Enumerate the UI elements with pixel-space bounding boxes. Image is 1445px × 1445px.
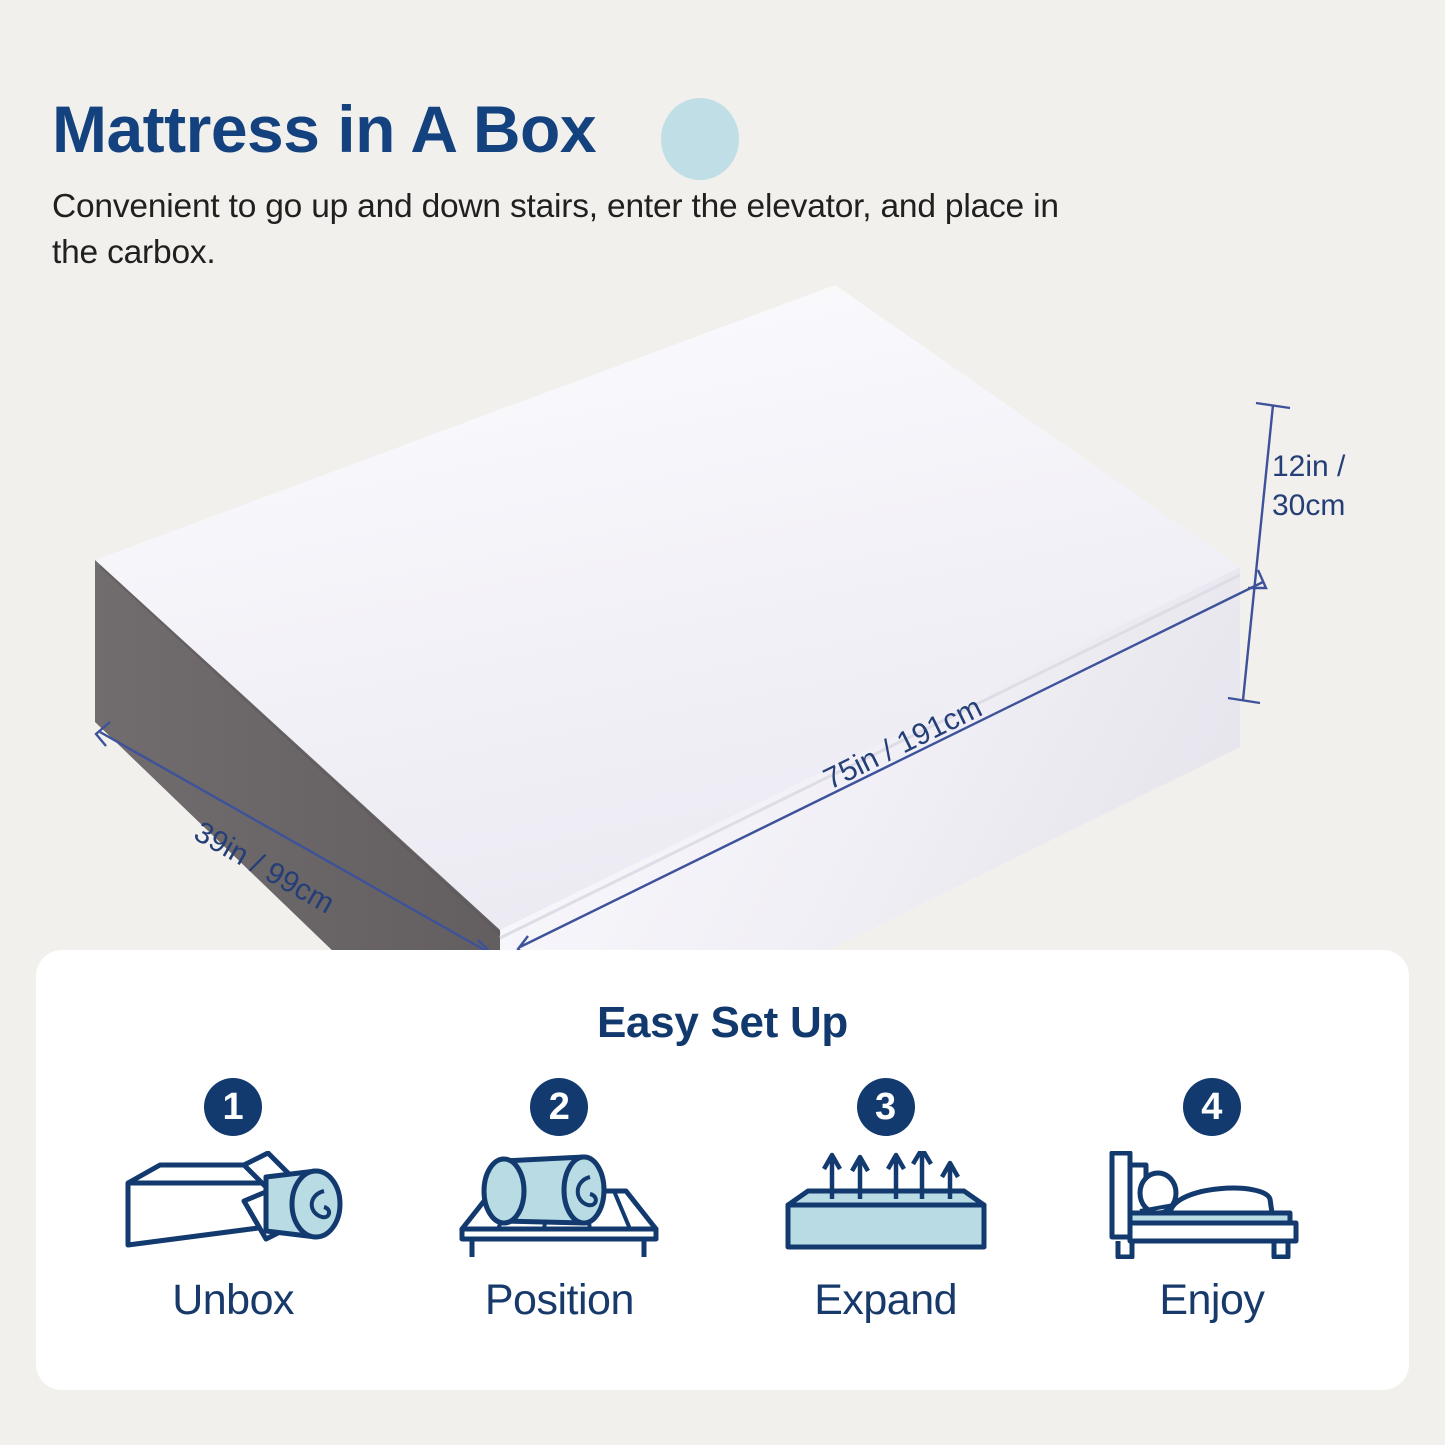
- product-figure: 12in / 30cm 75in / 191cm 39in / 99cm: [0, 270, 1445, 970]
- roll-on-bed-slats-icon: [454, 1150, 664, 1260]
- easy-set-up-card: Easy Set Up 1: [36, 950, 1409, 1390]
- title-accent-circle-icon: [661, 98, 739, 180]
- step-label-unbox: Unbox: [172, 1276, 294, 1325]
- dimension-height-label-line1: 12in /: [1272, 450, 1346, 483]
- setup-step-unbox: 1: [83, 1078, 383, 1325]
- step-label-enjoy: Enjoy: [1159, 1276, 1264, 1325]
- page-title: Mattress in A Box: [52, 96, 596, 162]
- box-with-mattress-roll-icon: [118, 1150, 348, 1260]
- header: Mattress in A Box Convenient to go up an…: [52, 96, 1152, 275]
- step-label-expand: Expand: [814, 1276, 957, 1325]
- setup-step-enjoy: 4: [1062, 1078, 1362, 1325]
- page-title-wrap: Mattress in A Box: [52, 96, 596, 162]
- mattress-expanding-arrows-icon: [778, 1150, 993, 1260]
- setup-step-position: 2: [409, 1078, 709, 1325]
- person-sleeping-in-bed-icon: [1104, 1150, 1319, 1260]
- dimension-height-label-line2: 30cm: [1272, 489, 1345, 522]
- step-number-badge-4: 4: [1183, 1078, 1241, 1136]
- dimension-height: 12in / 30cm: [1228, 403, 1346, 703]
- setup-steps-row: 1: [36, 1048, 1409, 1325]
- page-subtitle: Convenient to go up and down stairs, ent…: [52, 162, 1062, 275]
- step-number-badge-1: 1: [204, 1078, 262, 1136]
- step-number-badge-3: 3: [857, 1078, 915, 1136]
- boxed-mattress-illustration: 12in / 30cm 75in / 191cm 39in / 99cm: [0, 270, 1445, 970]
- step-label-position: Position: [485, 1276, 634, 1325]
- setup-heading: Easy Set Up: [36, 950, 1409, 1048]
- setup-step-expand: 3: [736, 1078, 1036, 1325]
- step-number-badge-2: 2: [530, 1078, 588, 1136]
